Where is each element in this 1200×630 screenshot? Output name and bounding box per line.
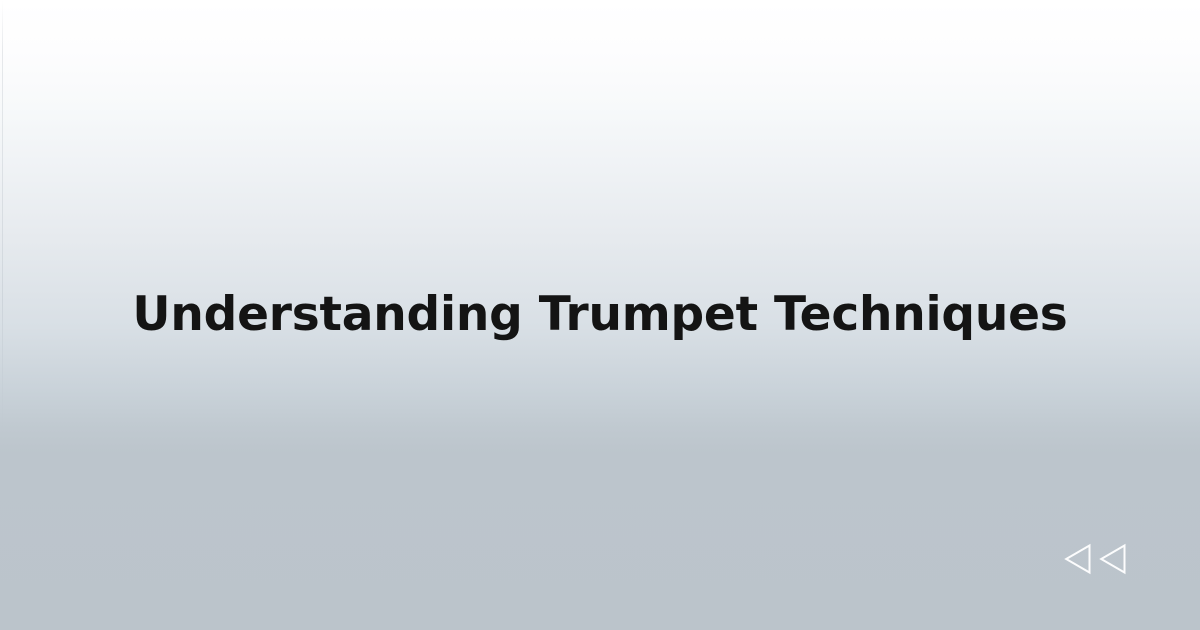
rewind-arrow-icon[interactable] bbox=[1098, 543, 1128, 575]
previous-arrow-icon[interactable] bbox=[1063, 543, 1093, 575]
navigation-controls bbox=[1063, 543, 1128, 575]
title-container: Understanding Trumpet Techniques bbox=[0, 0, 1200, 630]
slide-canvas: Understanding Trumpet Techniques bbox=[0, 0, 1200, 630]
page-title: Understanding Trumpet Techniques bbox=[92, 289, 1107, 341]
